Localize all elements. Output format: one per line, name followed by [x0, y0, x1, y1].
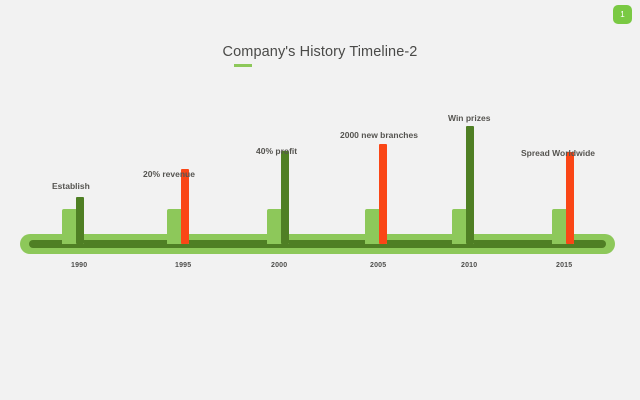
marker-event-label: 2000 new branches — [340, 130, 418, 140]
marker-stem — [566, 152, 574, 244]
marker-year-label: 2000 — [271, 262, 287, 269]
timeline-chart: Establish199020% revenue199540% profit20… — [0, 0, 640, 400]
marker-stem — [379, 144, 387, 244]
marker-stem — [76, 197, 84, 244]
marker-year-label: 1995 — [175, 262, 191, 269]
marker-year-label: 2015 — [556, 262, 572, 269]
marker-event-label: 20% revenue — [143, 169, 195, 179]
slide-canvas: 1 Company's History Timeline-2 Establish… — [0, 0, 640, 400]
marker-event-label: Establish — [52, 181, 90, 191]
marker-stem — [181, 169, 189, 244]
marker-stem — [281, 151, 289, 244]
timeline-rail-inner — [29, 240, 606, 248]
marker-event-label: Win prizes — [448, 113, 490, 123]
marker-year-label: 1990 — [71, 262, 87, 269]
marker-year-label: 2010 — [461, 262, 477, 269]
marker-stem — [466, 126, 474, 244]
marker-year-label: 2005 — [370, 262, 386, 269]
marker-event-label: 40% profit — [256, 146, 297, 156]
marker-event-label: Spread Worldwide — [521, 148, 595, 158]
